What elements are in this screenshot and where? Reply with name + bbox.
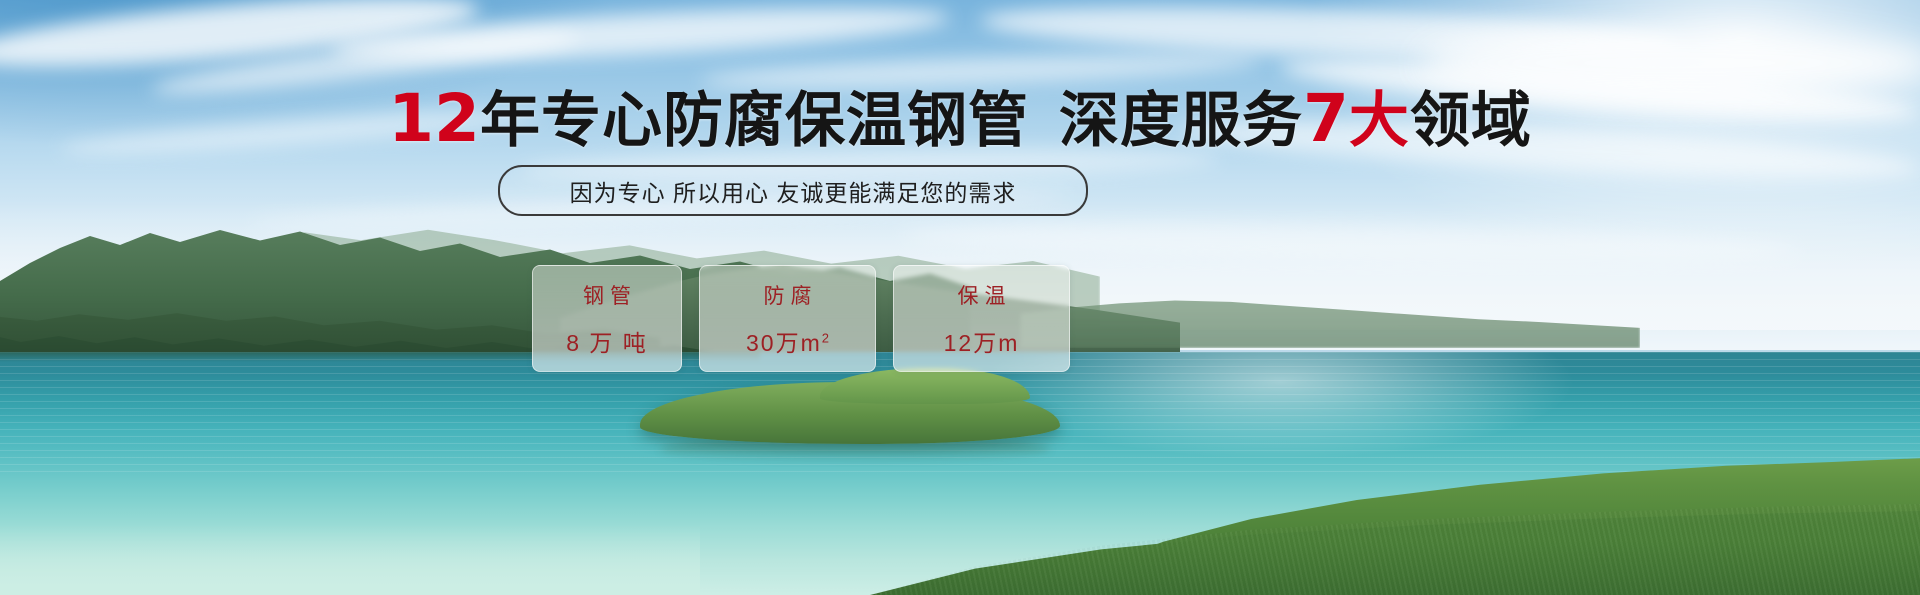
stat-card-insulation[interactable]: 保温 12万m <box>893 265 1070 372</box>
headline-text-primary: 年专心防腐保温钢管 <box>480 87 1029 154</box>
headline-text-fields: 领域 <box>1410 87 1532 154</box>
stat-value: 30万m2 <box>746 324 829 358</box>
banner-content: 12年专心防腐保温钢管深度服务7大领域 因为专心 所以用心 友诚更能满足您的需求… <box>0 0 1920 595</box>
subtitle-text: 因为专心 所以用心 友诚更能满足您的需求 <box>570 174 1017 208</box>
stat-value: 8 万 吨 <box>566 324 648 358</box>
stat-card-anticorrosion[interactable]: 防腐 30万m2 <box>699 265 876 372</box>
headline-years-number: 12 <box>388 80 480 157</box>
headline-text-da: 大 <box>1349 87 1410 154</box>
headline-fields-number: 7 <box>1303 80 1349 157</box>
stat-value: 12万m <box>944 324 1020 358</box>
headline: 12年专心防腐保温钢管深度服务7大领域 <box>0 86 1920 152</box>
stat-label: 防腐 <box>758 280 818 310</box>
stats-card-group: 钢管 8 万 吨 防腐 30万m2 保温 12万m <box>532 265 1070 372</box>
stat-label: 保温 <box>952 280 1012 310</box>
stat-label: 钢管 <box>577 280 637 310</box>
headline-text-service: 深度服务 <box>1059 87 1303 154</box>
hero-banner: 12年专心防腐保温钢管深度服务7大领域 因为专心 所以用心 友诚更能满足您的需求… <box>0 0 1920 595</box>
stat-card-steel-pipe[interactable]: 钢管 8 万 吨 <box>532 265 682 372</box>
subtitle-pill: 因为专心 所以用心 友诚更能满足您的需求 <box>498 165 1088 216</box>
stat-value-number: 30万m <box>746 330 822 356</box>
stat-value-exponent: 2 <box>822 330 829 345</box>
